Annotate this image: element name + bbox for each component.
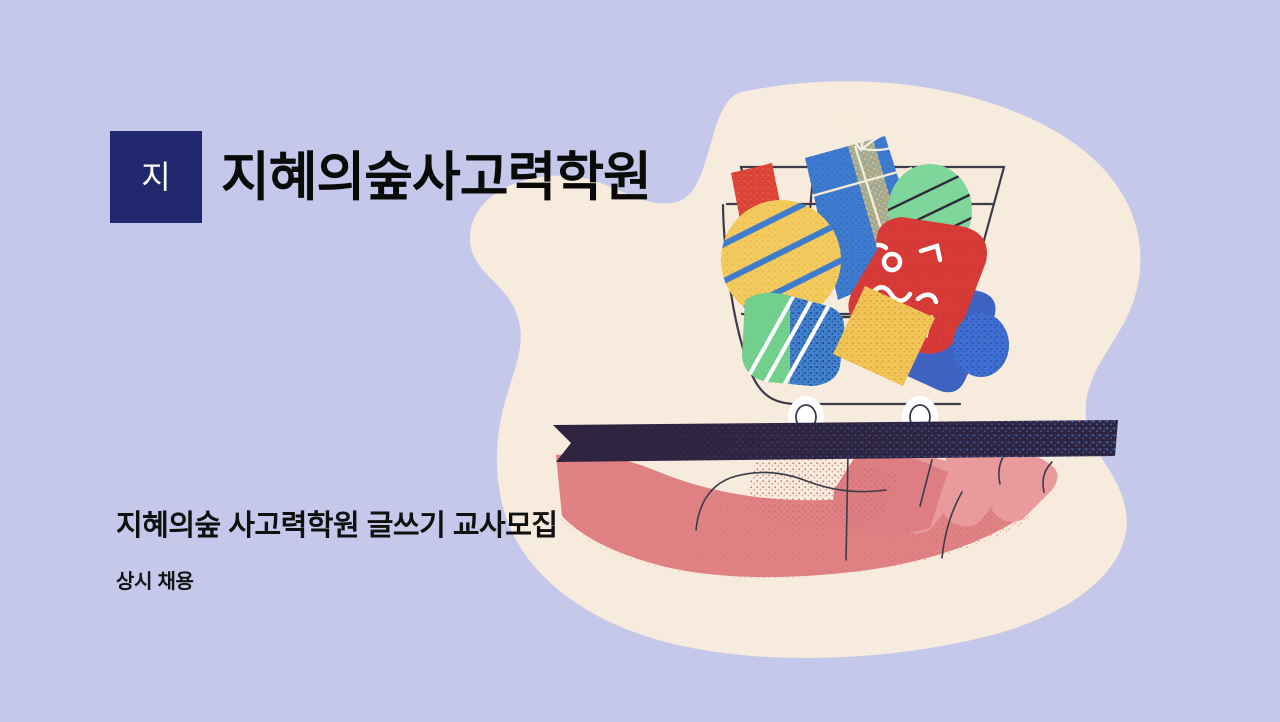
banner-background: [0, 0, 1280, 722]
company-name[interactable]: 지혜의숲사고력학원: [221, 151, 651, 204]
company-logo-initial: 지: [141, 161, 170, 193]
cart-wheel-right-halo: [902, 396, 938, 438]
gift-squiggle-marks: [866, 245, 940, 334]
gift-ribbon-bow: [844, 111, 899, 150]
gift-red-wedge: [731, 163, 788, 258]
job-posting-block: 지혜의숲 사고력학원 글쓰기 교사모집 상시 채용: [116, 508, 558, 595]
job-status-badge: 상시 채용: [116, 570, 558, 595]
gift-yellow-circle: [716, 186, 854, 326]
gift-blue-box: [800, 111, 930, 305]
job-title[interactable]: 지혜의숲 사고력학원 글쓰기 교사모집: [116, 508, 558, 544]
gift-ribbon-lines: [812, 146, 912, 282]
gift-yellow-diamond: [820, 275, 950, 400]
finger-3: [992, 453, 1058, 521]
shelf-bar: [553, 420, 1118, 462]
hand-and-arm: [540, 445, 1060, 595]
gift-blue-tag: [860, 260, 1010, 410]
thumb-gap: [700, 452, 880, 490]
cart-wheel-left-halo: [788, 396, 824, 438]
hand-outlines: [696, 452, 1052, 560]
cart-wheel-left: [796, 405, 816, 429]
cart-grid-v3: [940, 167, 946, 317]
finger-2: [944, 452, 1010, 527]
gift-blue-egg: [950, 310, 1014, 382]
gift-green-blob: [735, 285, 860, 396]
cart-handle-stem: [723, 205, 960, 404]
company-header[interactable]: 지 지혜의숲사고력학원: [110, 131, 651, 223]
cart-basket-outline: [741, 167, 1004, 317]
arm: [556, 454, 1030, 577]
gift-red-tag: [830, 210, 1000, 370]
finger-1: [892, 457, 963, 534]
cart-left-wall: [741, 167, 780, 317]
shopping-cart-illustration: [0, 0, 1280, 722]
company-job-banner: 지 지혜의숲사고력학원 지혜의숲 사고력학원 글쓰기 교사모집 상시 채용: [0, 0, 1280, 722]
cart-wheel-right: [910, 405, 930, 429]
cart-grid-v2: [872, 167, 878, 317]
cart-wheels: [788, 396, 938, 438]
gift-green-circle: [880, 164, 988, 258]
cart-grid-v1: [800, 167, 814, 317]
shopping-cart: [723, 167, 1004, 404]
palm: [833, 452, 948, 535]
company-logo-badge: 지: [110, 131, 202, 223]
